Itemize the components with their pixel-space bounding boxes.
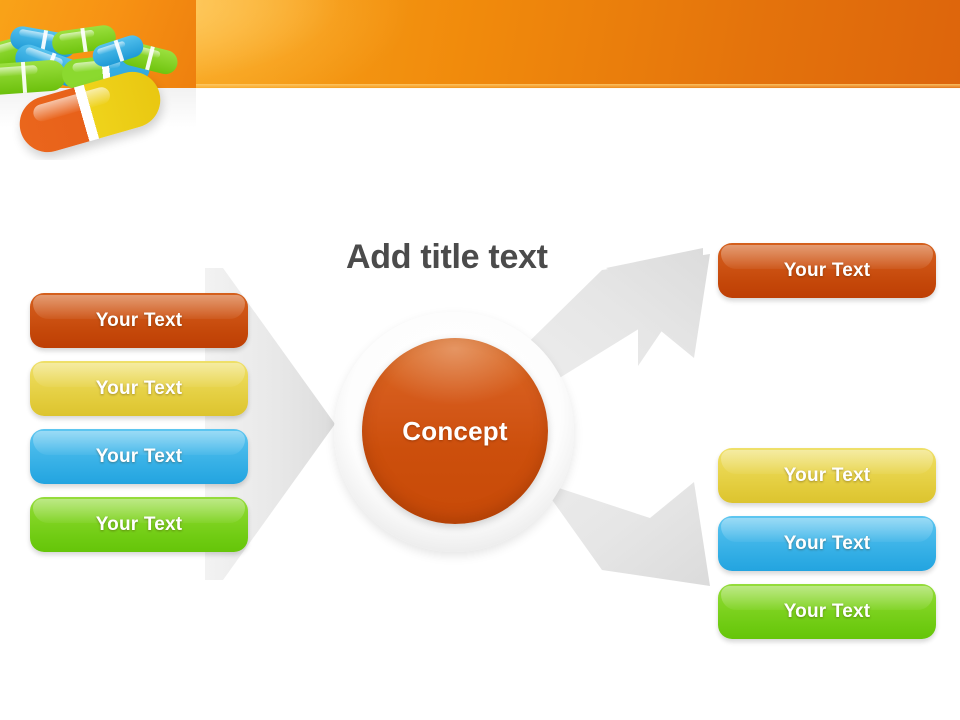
right-bottom-item-1-label: Your Text xyxy=(784,465,871,487)
left-item-4[interactable]: Your Text xyxy=(30,497,248,552)
concept-label: Concept xyxy=(402,416,507,447)
left-item-3[interactable]: Your Text xyxy=(30,429,248,484)
right-bottom-item-2[interactable]: Your Text xyxy=(718,516,936,571)
right-bottom-item-2-label: Your Text xyxy=(784,533,871,555)
right-bottom-item-1[interactable]: Your Text xyxy=(718,448,936,503)
right-top-item-1-label: Your Text xyxy=(784,260,871,282)
concept-inner-circle: Concept xyxy=(362,338,548,524)
left-item-2[interactable]: Your Text xyxy=(30,361,248,416)
slide-canvas: Concept Add title text Your Text Your Te… xyxy=(0,0,960,720)
right-bottom-item-3-label: Your Text xyxy=(784,601,871,623)
page-title: Add title text xyxy=(346,238,666,277)
left-item-1[interactable]: Your Text xyxy=(30,293,248,348)
right-bottom-item-3[interactable]: Your Text xyxy=(718,584,936,639)
left-item-1-label: Your Text xyxy=(96,310,183,332)
left-item-2-label: Your Text xyxy=(96,378,183,400)
left-item-3-label: Your Text xyxy=(96,446,183,468)
pills-capsules-photo xyxy=(0,0,196,160)
concept-circle[interactable]: Concept xyxy=(334,312,574,552)
right-top-item-1[interactable]: Your Text xyxy=(718,243,936,298)
left-item-4-label: Your Text xyxy=(96,514,183,536)
